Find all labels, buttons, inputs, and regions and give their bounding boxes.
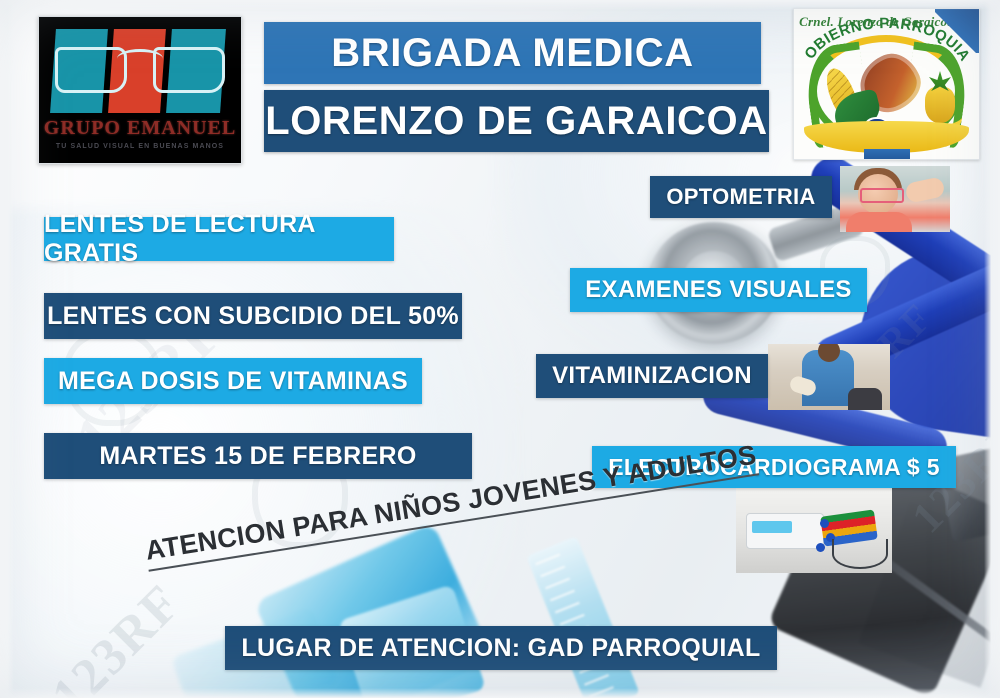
service-bar-examenes-visuales: EXAMENES VISUALES [570, 268, 867, 312]
venue-bar: LUGAR DE ATENCION: GAD PARROQUIAL [225, 626, 777, 670]
gobierno-parroquial-logo: GOBIERNO PARROQUIAL Crnel. Lorenzo de Ga… [793, 8, 980, 160]
service-bar-vitaminizacion: VITAMINIZACION [536, 354, 768, 398]
offer-label-1: LENTES CON SUBCIDIO DEL 50% [47, 302, 459, 331]
edge-fade-bottom [0, 688, 1000, 698]
page-title-line2: LORENZO DE GARAICOA [264, 90, 769, 152]
photo-ecg-electrode-3 [816, 543, 825, 552]
brand-tagline: TU SALUD VISUAL EN BUENAS MANOS [39, 143, 241, 150]
edge-fade-left [0, 0, 14, 698]
service-label-1: EXAMENES VISUALES [585, 276, 852, 304]
edge-fade-top [0, 0, 1000, 10]
grupo-emanuel-logo: GRUPO EMANUEL TU SALUD VISUAL EN BUENAS … [38, 16, 242, 164]
eyeglasses-lens-right [153, 47, 225, 93]
photo-child-shirt [846, 212, 912, 232]
offer-label-3: MARTES 15 DE FEBRERO [99, 442, 416, 471]
offer-bar-subcidio: LENTES CON SUBCIDIO DEL 50% [44, 293, 462, 339]
photo-child-glasses [860, 188, 904, 203]
service-bar-optometria: OPTOMETRIA [650, 176, 832, 218]
offer-label-2: MEGA DOSIS DE VITAMINAS [58, 367, 408, 396]
eyeglasses-lens-left [55, 47, 127, 93]
photo-ecg-screen [752, 521, 792, 533]
photo-optician-hand [904, 176, 945, 203]
page-title-line1: BRIGADA MEDICA [264, 22, 761, 84]
edge-fade-right [984, 0, 1000, 698]
photo-optometry-child [840, 166, 950, 232]
service-label-0: OPTOMETRIA [666, 184, 815, 210]
poster-canvas: 123RF 123RF 123RF 123RF GRUPO EMANUEL TU… [0, 0, 1000, 698]
photo-patient-leg [848, 388, 882, 410]
photo-ecg-cable [832, 539, 888, 569]
brand-name: GRUPO EMANUEL [39, 117, 241, 140]
offer-bar-lentes-gratis: LENTES DE LECTURA GRATIS [44, 217, 394, 261]
photo-vitamin-nurse [768, 344, 890, 410]
eyeglasses-icon [55, 47, 225, 91]
offer-bar-vitaminas: MEGA DOSIS DE VITAMINAS [44, 358, 422, 404]
title-bar-line1: BRIGADA MEDICA [264, 22, 761, 84]
venue-label: LUGAR DE ATENCION: GAD PARROQUIAL [241, 634, 760, 663]
offer-label-0: LENTES DE LECTURA GRATIS [44, 210, 394, 268]
gov-corner-accent [935, 8, 980, 53]
service-label-2: VITAMINIZACION [552, 362, 752, 390]
photo-ecg-machine [736, 487, 892, 573]
offer-bar-fecha: MARTES 15 DE FEBRERO [44, 433, 472, 479]
photo-ecg-electrode-1 [820, 519, 829, 528]
title-bar-line2: LORENZO DE GARAICOA [264, 90, 769, 152]
gov-bottom-accent [864, 149, 910, 160]
